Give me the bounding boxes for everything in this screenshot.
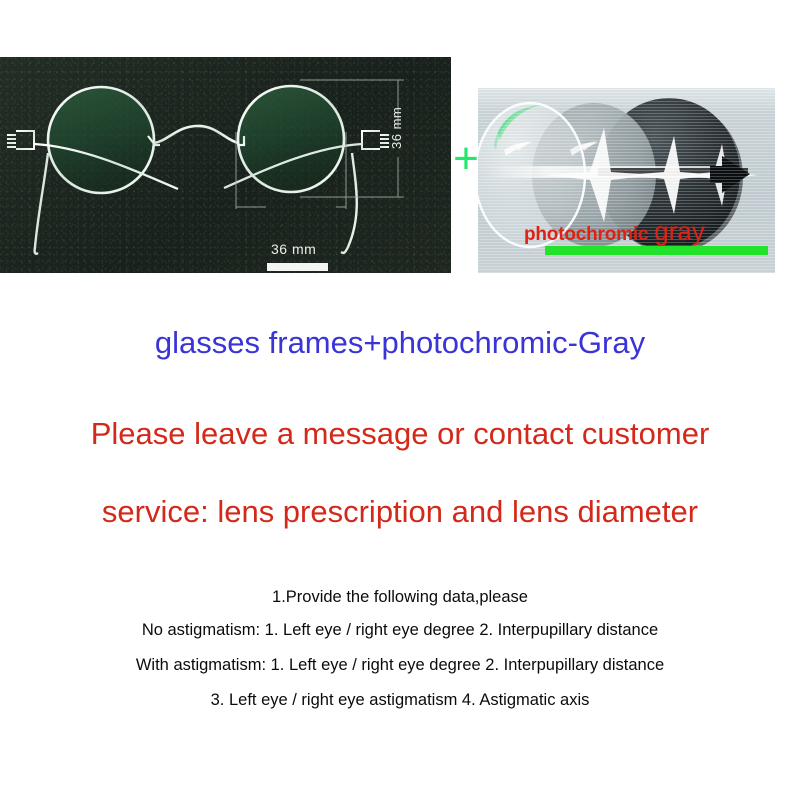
instructions-block: 1.Provide the following data,please No a… — [0, 580, 800, 710]
lens-caption-photochromic: photochromic — [524, 224, 648, 245]
notice-line-2: service: lens prescription and lens diam… — [0, 494, 800, 530]
product-listing-image: 36 mm 36 mm + — [0, 0, 800, 800]
frame-width-dimension-label: 36 mm — [271, 241, 316, 257]
instruction-line-1: 1.Provide the following data,please — [0, 588, 800, 607]
scale-bar — [267, 263, 328, 271]
media-row: 36 mm 36 mm + — [0, 0, 800, 290]
product-title: glasses frames+photochromic-Gray — [0, 325, 800, 361]
instruction-line-2: No astigmatism: 1. Left eye / right eye … — [0, 621, 800, 640]
notice-line-1: Please leave a message or contact custom… — [0, 416, 800, 452]
photochromic-lens-panel: photochromicgray — [478, 88, 775, 273]
caption-underline-bar — [545, 246, 768, 255]
lens-caption-gray: gray — [654, 216, 705, 246]
frame-height-dimension-label: 36 mm — [389, 107, 404, 149]
instruction-line-4: 3. Left eye / right eye astigmatism 4. A… — [0, 691, 800, 710]
instruction-line-3: With astigmatism: 1. Left eye / right ey… — [0, 656, 800, 675]
glasses-frame-photo: 36 mm 36 mm — [0, 57, 451, 273]
glasses-frame-drawing — [0, 57, 451, 273]
lens-caption: photochromicgray — [524, 216, 774, 246]
